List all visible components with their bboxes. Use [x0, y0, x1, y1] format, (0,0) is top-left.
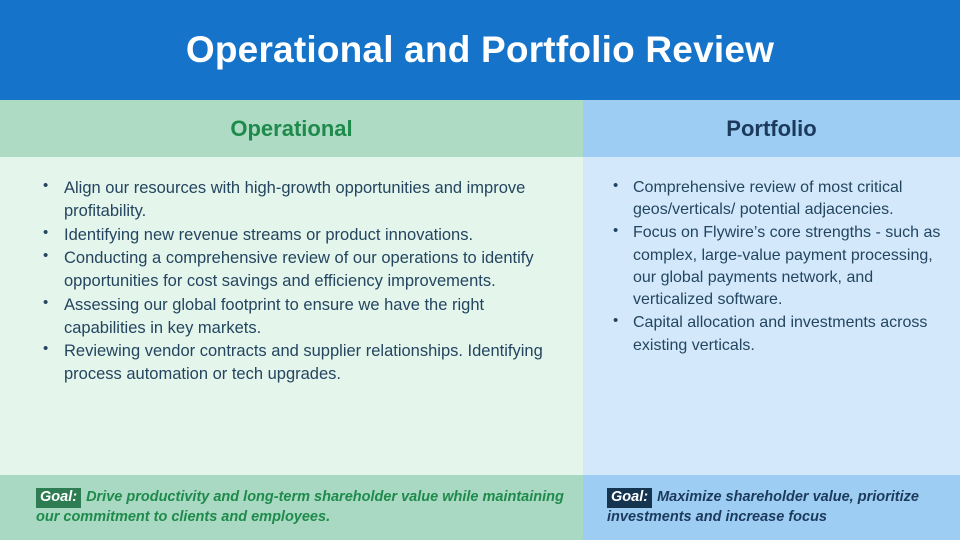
slide-title-band: Operational and Portfolio Review: [0, 0, 960, 100]
list-item: Focus on Flywire’s core strengths - such…: [603, 222, 944, 311]
page-title: Operational and Portfolio Review: [186, 31, 774, 70]
list-item: Align our resources with high-growth opp…: [36, 177, 557, 223]
list-item: Conducting a comprehensive review of our…: [36, 247, 557, 293]
portfolio-bullet-list: Comprehensive review of most critical ge…: [603, 177, 944, 357]
slide-root: Operational and Portfolio Review Operati…: [0, 0, 960, 540]
operational-body: Align our resources with high-growth opp…: [0, 157, 583, 475]
list-item: Identifying new revenue streams or produ…: [36, 224, 557, 247]
list-item: Reviewing vendor contracts and supplier …: [36, 340, 557, 386]
portfolio-goal-text-wrap: Goal:Maximize shareholder value, priorit…: [607, 488, 950, 527]
list-item: Capital allocation and investments acros…: [603, 312, 944, 356]
column-operational: Operational Align our resources with hig…: [0, 100, 583, 540]
portfolio-goal-statement: Maximize shareholder value, prioritize i…: [607, 489, 919, 525]
operational-goal-statement: Drive productivity and long-term shareho…: [36, 489, 564, 525]
list-item: Comprehensive review of most critical ge…: [603, 177, 944, 221]
portfolio-goal-label: Goal:: [607, 488, 652, 508]
operational-goal-label: Goal:: [36, 488, 81, 508]
operational-header-label: Operational: [230, 118, 352, 140]
operational-bullet-list: Align our resources with high-growth opp…: [36, 177, 557, 386]
portfolio-header-band: Portfolio: [583, 100, 960, 157]
operational-goal-band: Goal:Drive productivity and long-term sh…: [0, 475, 583, 540]
operational-goal-text-wrap: Goal:Drive productivity and long-term sh…: [36, 488, 565, 527]
list-item: Assessing our global footprint to ensure…: [36, 294, 557, 340]
column-portfolio: Portfolio Comprehensive review of most c…: [583, 100, 960, 540]
operational-header-band: Operational: [0, 100, 583, 157]
portfolio-header-label: Portfolio: [726, 118, 816, 140]
two-column-layout: Operational Align our resources with hig…: [0, 100, 960, 540]
portfolio-body: Comprehensive review of most critical ge…: [583, 157, 960, 475]
portfolio-goal-band: Goal:Maximize shareholder value, priorit…: [583, 475, 960, 540]
